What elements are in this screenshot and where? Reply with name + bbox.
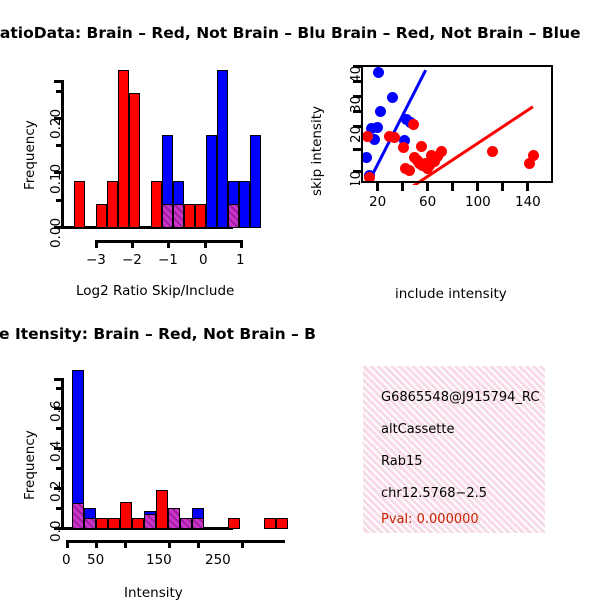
bar-brain-1 xyxy=(96,204,107,228)
scatter-xlabel: include intensity xyxy=(395,286,507,302)
bar-notbrain-2 xyxy=(206,135,217,228)
pval-label: Pval: 0.000000 xyxy=(381,512,479,527)
gene-ytick-8 xyxy=(54,378,62,381)
panel-gene-intensity-histogram: ne Itensity: Brain – Red, Not Brain – B … xyxy=(0,300,300,600)
bar-notbrain-5 xyxy=(239,181,250,228)
gene-intensity-xlabel: Intensity xyxy=(124,585,183,601)
gene-ytick-label-6: 0.6 xyxy=(48,401,64,422)
scatter-plot-frame-overlay xyxy=(361,65,553,183)
gene-name-label: Rab15 xyxy=(381,454,423,469)
scatter-xtick-140 xyxy=(526,183,529,191)
gene-bar-brain-3 xyxy=(108,518,120,529)
bar-notbrain-3 xyxy=(217,70,228,228)
gene-bar-overlap-0 xyxy=(72,503,84,529)
bar-brain-5 xyxy=(151,181,162,228)
scatter-xtick-20 xyxy=(376,183,379,191)
ratio-ytick-label-1: 0.10 xyxy=(48,164,64,194)
scatter-clip-top xyxy=(340,48,570,64)
panel-ratio-histogram: RatioData: Brain – Red, Not Brain – Blu … xyxy=(0,0,300,300)
scatter-ytick-15 xyxy=(353,148,361,151)
gene-bar-overlap-10 xyxy=(192,518,204,529)
gene-xtick-0 xyxy=(66,540,69,548)
probe-info-panel: G6865548@J915794_RC altCassette Rab15 ch… xyxy=(363,366,545,533)
gene-bar-overlap-9 xyxy=(180,518,192,529)
gene-xtick-50 xyxy=(95,540,98,548)
gene-xtick-label-250: 250 xyxy=(205,552,231,568)
gene-bar-overlap-1 xyxy=(84,518,96,529)
ratio-histogram-yaxis xyxy=(61,80,64,228)
gene-bar-overlap-8 xyxy=(168,508,180,529)
probe-id-label: G6865548@J915794_RC xyxy=(381,390,539,405)
ratio-ytick-3 xyxy=(56,144,62,147)
bar-brain-4 xyxy=(129,93,140,228)
ratio-ytick-1 xyxy=(56,199,62,202)
gene-bar-brain-2 xyxy=(96,518,108,529)
bar-overlap-2 xyxy=(228,204,239,228)
gene-ytick-label-2: 0.2 xyxy=(48,481,64,502)
bar-overlap-0 xyxy=(162,204,173,228)
gene-xtick-label-0: 0 xyxy=(62,552,71,568)
gene-xtick-150 xyxy=(168,540,171,548)
gene-ytick-7 xyxy=(56,387,62,390)
bar-overlap-1 xyxy=(173,204,184,228)
bar-brain-0 xyxy=(74,181,85,228)
gene-ytick-1 xyxy=(56,507,62,510)
ratio-xtick-label-4: 1 xyxy=(236,252,245,268)
genomic-location-label: chr12.5768−2.5 xyxy=(381,486,487,501)
gene-intensity-ylabel: Frequency xyxy=(22,430,38,500)
bar-brain-3 xyxy=(118,70,129,228)
ratio-xtick-2 xyxy=(167,240,170,248)
ratio-xtick-label-3: 0 xyxy=(199,252,208,268)
bar-brain-2 xyxy=(107,181,118,228)
ratio-histogram-ylabel: Frequency xyxy=(22,120,38,190)
ratio-ytick-label-2: 0.20 xyxy=(48,109,64,139)
scatter-ylabel: skip intensity xyxy=(309,106,325,196)
ratio-ytick-label-0: 0.00 xyxy=(48,218,64,248)
ratio-xtick-1 xyxy=(131,240,134,248)
gene-xtick-200 xyxy=(197,540,200,548)
panel-intensity-scatter: Brain – Red, Not Brain – Blue skip inten… xyxy=(300,0,600,300)
gene-bar-brain-7 xyxy=(156,490,168,529)
gene-ytick-3 xyxy=(56,467,62,470)
gene-ytick-5 xyxy=(56,427,62,430)
gene-bar-brain-12 xyxy=(228,518,240,529)
ratio-xtick-label-2: −1 xyxy=(158,252,178,268)
gene-ytick-label-0: 0.0 xyxy=(48,521,64,542)
scatter-xtick-60 xyxy=(426,183,429,191)
scatter-xtick-80 xyxy=(451,183,454,191)
scatter-clip-right xyxy=(555,60,600,190)
gene-xtick-label-50: 50 xyxy=(87,552,104,568)
bar-brain-7 xyxy=(195,204,206,228)
ratio-ytick-5 xyxy=(56,90,62,93)
ratio-histogram-title: RatioData: Brain – Red, Not Brain – Blu xyxy=(0,24,326,42)
scatter-xtick-label-60: 60 xyxy=(419,194,436,210)
scatter-xtick-120 xyxy=(501,183,504,191)
gene-intensity-title: ne Itensity: Brain – Red, Not Brain – B xyxy=(0,325,316,343)
ratio-xtick-3 xyxy=(204,240,207,248)
gene-xtick-100 xyxy=(124,540,127,548)
scatter-xtick-label-20: 20 xyxy=(369,194,386,210)
scatter-xtick-40 xyxy=(401,183,404,191)
ratio-histogram-xlabel: Log2 Ratio Skip/Include xyxy=(76,283,234,299)
gene-xtick-250 xyxy=(241,540,244,548)
gene-bar-brain-5 xyxy=(132,518,144,529)
gene-bar-brain-14 xyxy=(276,518,288,529)
ratio-xtick-0 xyxy=(95,240,98,248)
scatter-title: Brain – Red, Not Brain – Blue xyxy=(331,24,581,42)
ratio-xtick-label-1: −2 xyxy=(122,252,142,268)
gene-xtick-label-150: 150 xyxy=(146,552,172,568)
bar-brain-6 xyxy=(184,204,195,228)
event-type-label: altCassette xyxy=(381,422,454,437)
scatter-xtick-100 xyxy=(476,183,479,191)
ratio-xtick-label-0: −3 xyxy=(86,252,106,268)
gene-ytick-label-4: 0.4 xyxy=(48,441,64,462)
scatter-xtick-label-100: 100 xyxy=(465,194,491,210)
gene-bar-brain-13 xyxy=(264,518,276,529)
bar-notbrain-6 xyxy=(250,135,261,228)
gene-bar-brain-4 xyxy=(120,502,132,529)
gene-bar-overlap-6 xyxy=(144,514,156,529)
gene-intensity-xaxis xyxy=(66,540,285,543)
ratio-xtick-4 xyxy=(240,240,243,248)
scatter-xtick-label-140: 140 xyxy=(515,194,541,210)
ratio-ytick-6 xyxy=(54,80,62,83)
